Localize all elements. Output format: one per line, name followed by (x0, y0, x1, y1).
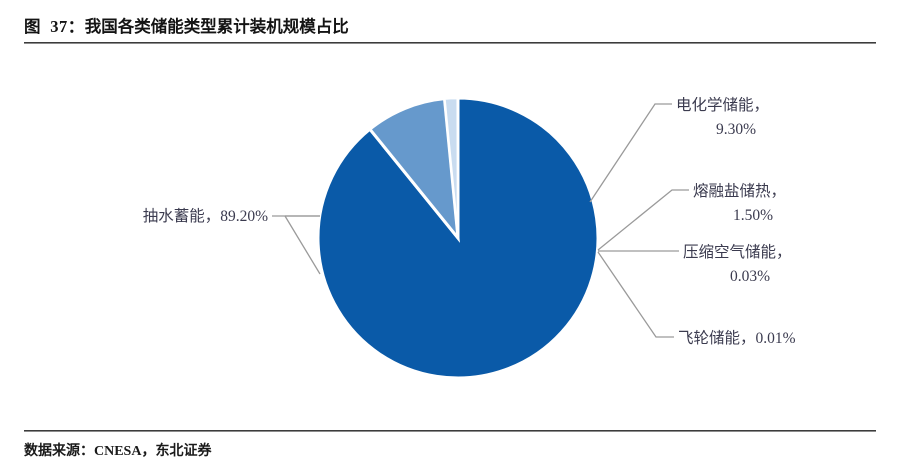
label-molten-salt-line1: 熔融盐储热， (693, 182, 786, 200)
page-title: 我国各类储能类型累计装机规模占比 (85, 13, 349, 37)
figure-container: 图 37： 我国各类储能类型累计装机规模占比 (0, 0, 900, 476)
label-compressed-air-line1: 压缩空气储能， (683, 243, 792, 261)
label-electrochemical-line1: 电化学储能， (676, 96, 769, 114)
source-note: 数据来源：CNESA，东北证券 (24, 440, 211, 460)
leader-line-electrochemical (590, 104, 672, 202)
leader-line-pumped-hydro-seg (285, 216, 320, 274)
figure-title-row: 图 37： 我国各类储能类型累计装机规模占比 (24, 10, 876, 40)
label-pumped-hydro: 抽水蓄能，89.20% (143, 207, 268, 225)
pie-slices (318, 98, 598, 378)
label-electrochemical-line2: 9.30% (716, 121, 756, 138)
leader-line-flywheel (598, 252, 674, 337)
label-compressed-air-line2: 0.03% (730, 268, 770, 285)
pie-chart-svg: 抽水蓄能，89.20% 电化学储能， 9.30% 熔融盐储热， 1.50% 压缩… (24, 50, 876, 425)
title-divider (24, 42, 876, 44)
leader-line-molten-salt (598, 190, 689, 250)
pie-chart: 抽水蓄能，89.20% 电化学储能， 9.30% 熔融盐储热， 1.50% 压缩… (24, 50, 876, 425)
source-divider (24, 430, 876, 432)
label-molten-salt-line2: 1.50% (733, 207, 773, 224)
figure-number: 图 37： (24, 13, 85, 37)
label-flywheel: 飞轮储能，0.01% (678, 329, 796, 347)
